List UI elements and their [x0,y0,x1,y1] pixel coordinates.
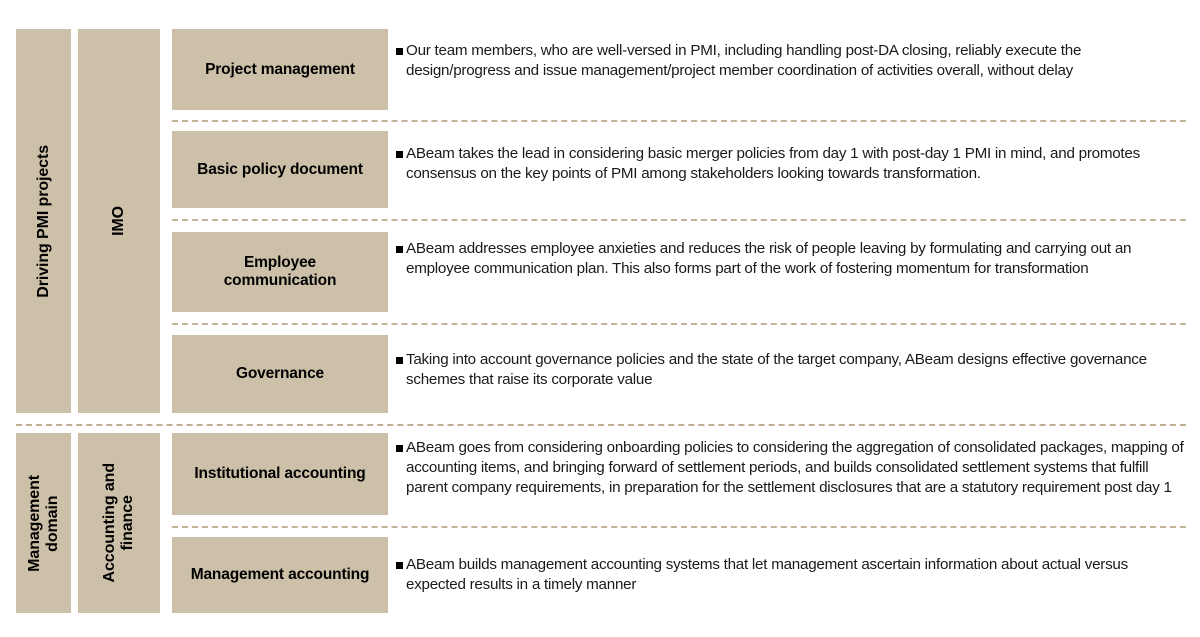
diagram-canvas: Driving PMI projects IMO Project managem… [0,0,1200,637]
category-label: Governance [230,365,330,383]
description-text: ABeam takes the lead in considering basi… [406,144,1186,184]
description-text: ABeam addresses employee anxieties and r… [406,239,1186,279]
description-text: Taking into account governance policies … [406,350,1186,390]
row-separator [172,323,1186,325]
category-box-basic-policy-document: Basic policy document [172,131,388,208]
category-label: Project management [199,61,361,79]
group-separator [16,424,1186,426]
description-basic-policy-document: ABeam takes the lead in considering basi… [396,144,1186,184]
category-label: Employee communication [218,254,343,290]
category-box-governance: Governance [172,335,388,413]
category-box-employee-communication: Employee communication [172,232,388,312]
domain-label-text: Driving PMI projects [35,145,53,298]
row-separator [172,526,1186,528]
description-management-accounting: ABeam builds management accounting syste… [396,555,1186,595]
function-label-imo: IMO [78,29,160,413]
bullet-square-icon [396,445,403,452]
description-institutional-accounting: ABeam goes from considering onboarding p… [396,438,1186,498]
bullet-square-icon [396,246,403,253]
function-label-text: IMO [110,206,128,236]
category-label: Basic policy document [191,161,369,179]
category-box-institutional-accounting: Institutional accounting [172,433,388,515]
category-box-project-management: Project management [172,29,388,110]
description-project-management: Our team members, who are well-versed in… [396,41,1186,81]
description-governance: Taking into account governance policies … [396,350,1186,390]
function-label-text: Accounting and finance [101,463,137,582]
function-label-accounting-and-finance: Accounting and finance [78,433,160,613]
description-text: ABeam goes from considering onboarding p… [406,438,1186,498]
description-employee-communication: ABeam addresses employee anxieties and r… [396,239,1186,279]
description-text: Our team members, who are well-versed in… [406,41,1186,81]
bullet-square-icon [396,48,403,55]
row-separator [172,219,1186,221]
domain-label-management-domain: Management domain [16,433,71,613]
category-label: Management accounting [185,566,376,584]
category-box-management-accounting: Management accounting [172,537,388,613]
description-text: ABeam builds management accounting syste… [406,555,1186,595]
domain-label-text: Management domain [26,475,62,572]
bullet-square-icon [396,357,403,364]
row-separator [172,120,1186,122]
domain-label-driving-pmi-projects: Driving PMI projects [16,29,71,413]
bullet-square-icon [396,562,403,569]
category-label: Institutional accounting [188,465,371,483]
bullet-square-icon [396,151,403,158]
